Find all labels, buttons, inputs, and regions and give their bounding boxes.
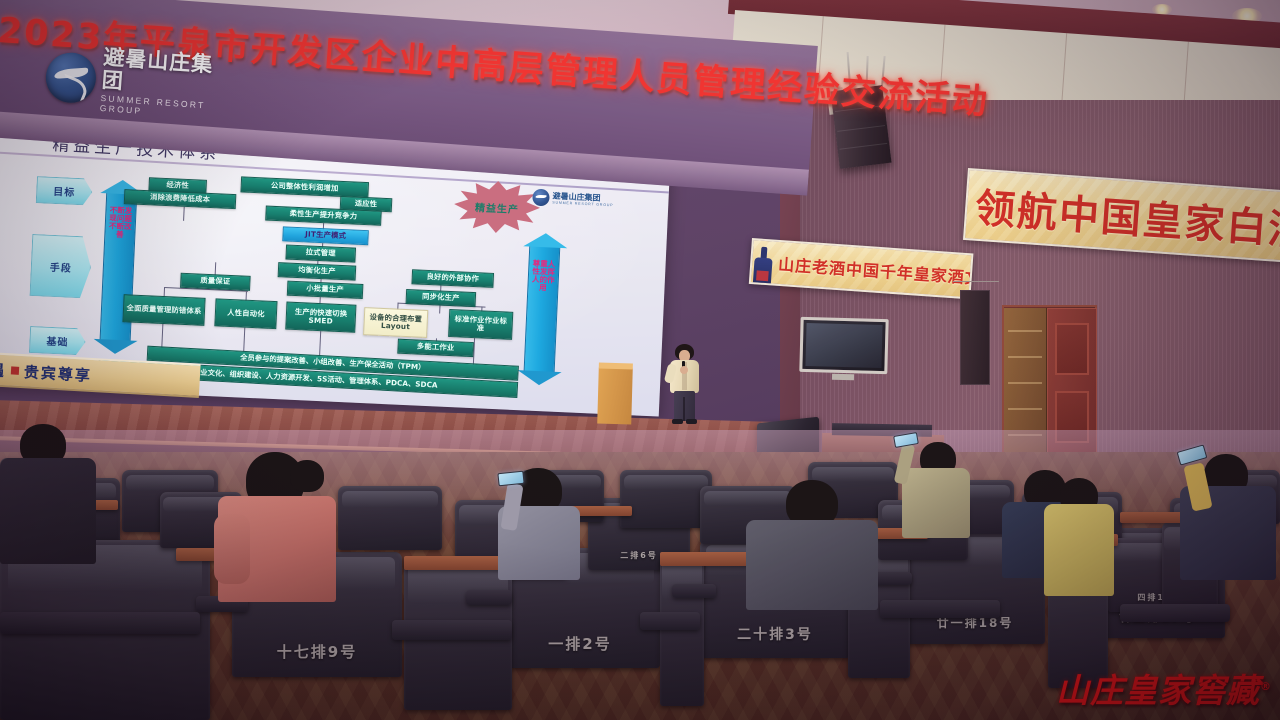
person-body <box>746 520 878 610</box>
n-youhao: 良好的外部协作 <box>411 269 494 288</box>
n-xiaopiliang: 小批量生产 <box>287 281 364 299</box>
audience-member-photographer <box>1180 450 1276 580</box>
wall-mounted-display <box>799 317 888 374</box>
brand-mark-icon <box>532 189 550 207</box>
presenter <box>666 344 702 424</box>
diagram-connector <box>183 207 185 221</box>
banner-square-icon <box>11 366 19 374</box>
n-kuaisu: 生产的快速切换SMED <box>285 302 356 333</box>
slide-brand-logo: 避暑山庄集团 SUMMER RESORT GROUP <box>532 189 614 210</box>
presenter-shoe <box>686 419 697 424</box>
auditorium-seat <box>660 556 704 706</box>
smartphone <box>497 471 524 487</box>
presenter-shoe <box>672 419 683 424</box>
summer-resort-swoosh-icon <box>44 50 97 103</box>
n-biaozhun: 标准作业作业标准 <box>448 309 513 340</box>
presenter-hand <box>680 366 688 374</box>
seat-armrest <box>392 620 512 640</box>
seat-armrest <box>640 612 700 630</box>
person-body <box>902 468 970 538</box>
slide-label-means: 手段 <box>30 234 93 299</box>
diagram-connector <box>439 306 441 314</box>
seat-number-label: 一排2号 <box>500 633 660 654</box>
podium <box>597 368 633 425</box>
presenter-trousers <box>674 391 695 421</box>
seat-armrest <box>880 600 1000 618</box>
n-quanmian: 全面质量管理防错体系 <box>122 294 205 326</box>
audience-member-front-center <box>272 460 338 520</box>
n-jit: JIT生产模式 <box>282 226 369 245</box>
n-tongbu: 同步化生产 <box>406 289 477 307</box>
n-zhiliang: 质量保证 <box>180 273 251 291</box>
watermark-registered-mark: ® <box>1260 680 1272 693</box>
person-body <box>0 458 96 564</box>
person-body <box>1044 504 1114 596</box>
n-xiaochu: 消除浪费降低成本 <box>124 189 237 209</box>
conference-photo: 精益生产技术体系 目标 手段 基础 不断发现问题不断改善 尊重人性发挥人的作用 <box>0 0 1280 720</box>
seat-armrest <box>672 584 716 598</box>
left-banner-prefix: 遇 <box>0 359 7 381</box>
n-shebei: 设备的合理布置Layout <box>363 307 428 338</box>
seat-armrest <box>0 612 200 634</box>
door-panel[interactable] <box>1047 308 1097 464</box>
watermark-text: 山庄皇家窖藏 <box>1056 671 1260 710</box>
seat-number-label: 二十排3号 <box>700 624 850 644</box>
audience-member <box>0 424 120 564</box>
watermark-logo: 山庄皇家窖藏® <box>1056 664 1272 712</box>
smartphone <box>893 432 919 448</box>
seat-number-label: 十七排9号 <box>232 641 402 662</box>
company-name-cn: 避暑山庄集团 <box>101 46 233 99</box>
person-head <box>290 460 324 492</box>
improvement-arrow-text: 不断发现问题不断改善 <box>105 206 135 239</box>
mid-banner-text: 山庄老酒中国千年皇家酒文化传 <box>777 251 973 292</box>
audience-member-yellow <box>1044 476 1114 596</box>
n-junheng: 均衡化生产 <box>278 262 357 281</box>
open-door-leaf[interactable] <box>1004 308 1047 463</box>
slide-label-goal: 目标 <box>36 176 93 206</box>
n-renxing: 人性自动化 <box>214 298 277 329</box>
seat-armrest <box>466 590 512 605</box>
audience-member-khaki <box>898 442 972 538</box>
audience-member-with-phone <box>488 462 584 580</box>
n-duoneng: 多能工作业 <box>397 339 474 357</box>
auditorium-seat <box>620 470 712 528</box>
burst-label: 精益生产 <box>475 199 520 216</box>
wall-mounted-speaker <box>960 290 990 385</box>
auditorium-seat <box>338 486 442 550</box>
respect-arrow-text: 尊重人性发挥人的作用 <box>528 260 558 293</box>
n-lirun: 公司整体性利润增加 <box>240 176 369 198</box>
n-lashi: 拉式管理 <box>285 244 356 262</box>
monitor-stand <box>832 374 854 381</box>
person-arm <box>214 514 250 584</box>
audience-member-grey-hoodie <box>742 480 882 610</box>
slide-label-foundation: 基础 <box>29 326 86 356</box>
left-banner-text: 贵宾尊享 <box>23 361 92 386</box>
respect-people-arrow: 尊重人性发挥人的作用 <box>524 245 561 374</box>
seat-armrest <box>1120 604 1230 622</box>
lean-production-burst: 精益生产 <box>453 179 541 235</box>
